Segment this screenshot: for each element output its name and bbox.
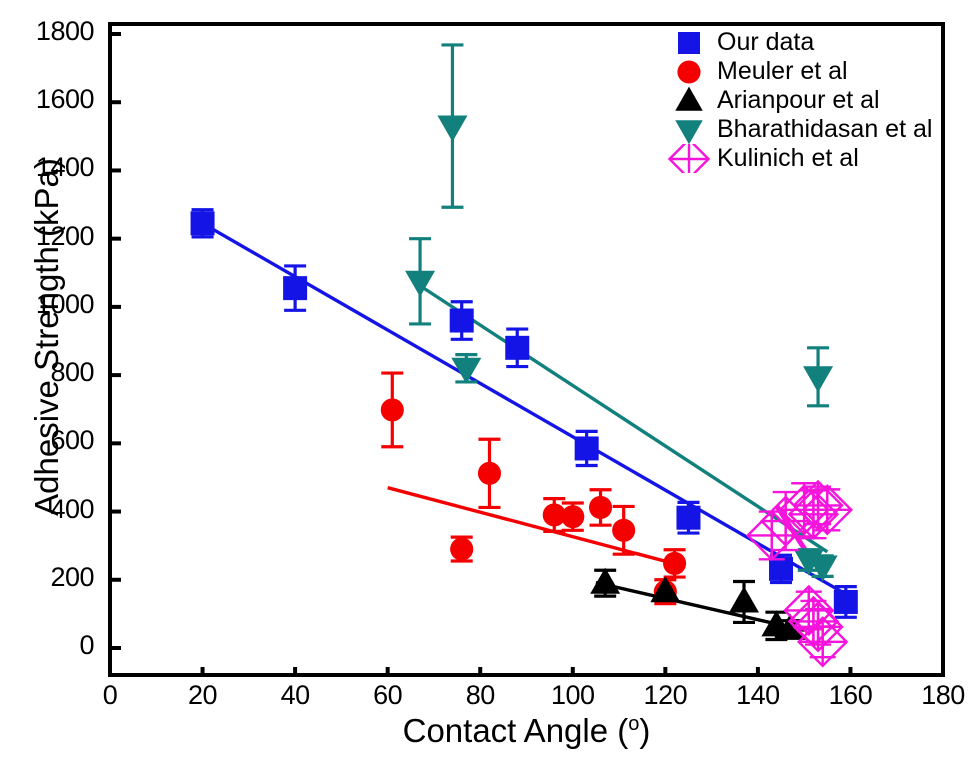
- data-point-circle: [612, 519, 635, 542]
- x-tick-label: 0: [70, 680, 150, 711]
- data-point-circle: [677, 60, 700, 83]
- x-tick-label: 160: [810, 680, 890, 711]
- data-point-triangle-down: [437, 116, 467, 142]
- y-tick-label: 200: [0, 562, 94, 593]
- data-point-square: [575, 436, 599, 460]
- x-tick-label: 40: [255, 680, 335, 711]
- data-point-circle: [450, 538, 473, 561]
- x-axis-label-text: Contact Angle (: [403, 712, 629, 749]
- x-axis-label: Contact Angle (o): [108, 712, 945, 750]
- x-tick-label: 120: [625, 680, 705, 711]
- legend-label: Meuler et al: [717, 57, 848, 86]
- data-point-square: [283, 276, 307, 300]
- legend-marker-square-icon: [665, 28, 713, 57]
- x-tick-label: 60: [348, 680, 428, 711]
- data-point-square: [834, 590, 858, 614]
- y-tick-label: 1800: [0, 16, 94, 47]
- data-point-triangle-down: [675, 120, 703, 144]
- data-point-square: [505, 336, 529, 360]
- x-tick-label: 100: [533, 680, 613, 711]
- data-point-circle: [663, 552, 686, 575]
- legend-marker-triangle-up-icon: [665, 86, 713, 115]
- legend-label: Arianpour et al: [717, 86, 880, 115]
- legend-label: Bharathidasan et al: [717, 115, 932, 144]
- data-point-triangle-up: [729, 586, 759, 612]
- legend-label: Our data: [717, 28, 814, 57]
- data-point-square: [678, 32, 700, 54]
- y-tick-label: 1600: [0, 84, 94, 115]
- data-point-square: [191, 211, 215, 235]
- data-point-circle: [589, 496, 612, 519]
- series-meuler-et-al: [381, 373, 686, 604]
- series-our-data: [191, 210, 858, 618]
- legend-item[interactable]: Bharathidasan et al: [665, 115, 955, 144]
- x-tick-label: 180: [903, 680, 968, 711]
- data-point-square: [450, 309, 474, 333]
- data-point-square: [676, 506, 700, 530]
- legend-item[interactable]: Arianpour et al: [665, 86, 955, 115]
- chart-container: 020040060080010001200140016001800 020406…: [0, 0, 968, 766]
- x-tick-label: 20: [163, 680, 243, 711]
- legend-item[interactable]: Meuler et al: [665, 57, 955, 86]
- y-tick-label: 0: [0, 630, 94, 661]
- data-point-circle: [561, 505, 584, 528]
- legend-item[interactable]: Our data: [665, 28, 955, 57]
- legend-marker-diamond-cross-icon: [665, 144, 713, 173]
- legend-label: Kulinich et al: [717, 144, 859, 173]
- data-point-triangle-up: [675, 87, 703, 111]
- data-point-circle: [478, 462, 501, 485]
- y-axis-label: Adhesive Strength (kPa): [28, 127, 66, 547]
- trendline: [388, 488, 684, 566]
- x-tick-label: 140: [718, 680, 798, 711]
- x-axis-label-paren: ): [639, 712, 650, 749]
- data-point-circle: [381, 398, 404, 421]
- legend-marker-circle-icon: [665, 57, 713, 86]
- degree-symbol: o: [628, 713, 639, 735]
- x-tick-label: 80: [440, 680, 520, 711]
- data-point-diamond-cross: [670, 144, 709, 173]
- legend-marker-triangle-down-icon: [665, 115, 713, 144]
- legend: Our dataMeuler et alArianpour et alBhara…: [665, 28, 955, 173]
- legend-item[interactable]: Kulinich et al: [665, 144, 955, 173]
- data-point-triangle-down: [803, 366, 833, 392]
